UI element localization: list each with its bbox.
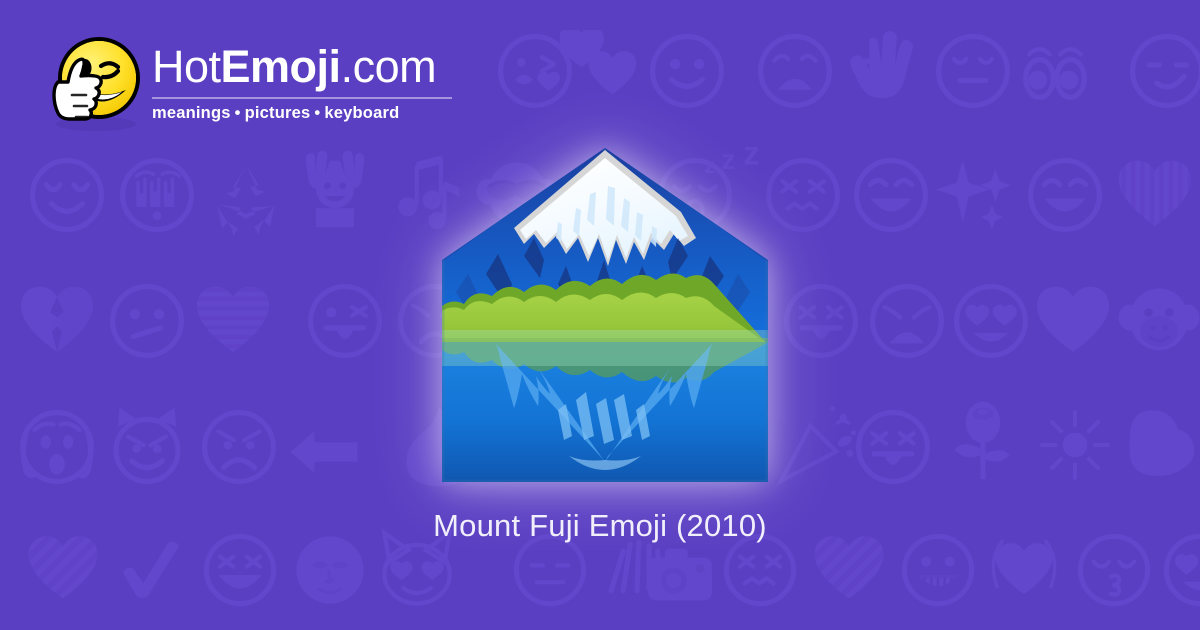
tagline-item-meanings: meanings <box>152 104 231 122</box>
squinting-tongue-face-icon <box>850 404 936 490</box>
rose-icon <box>940 400 1026 486</box>
two-hearts-icon <box>560 30 646 116</box>
raising-hands-person-icon <box>292 148 378 234</box>
winking-tongue-face-icon <box>302 278 388 364</box>
heart-eyes-face-icon <box>948 278 1034 364</box>
monkey-face-icon <box>1116 278 1200 364</box>
barcode-face-icon <box>114 152 200 238</box>
scream-face-icon <box>14 404 100 490</box>
logo-divider <box>152 97 452 99</box>
site-logo[interactable]: HotEmoji.com meanings•pictures•keyboard <box>38 26 452 134</box>
page-root: zzz <box>0 0 1200 630</box>
angry-face-icon <box>196 404 282 490</box>
page-title: Mount Fuji Emoji (2010) <box>0 505 1200 547</box>
mount-fuji-emoji-artwork <box>438 142 772 486</box>
left-arrow-icon <box>284 412 364 492</box>
site-wordmark: HotEmoji.com <box>152 41 452 93</box>
slight-smile-face-icon <box>644 28 730 114</box>
smirking-face-icon <box>1124 28 1200 114</box>
grinning-face-icon <box>848 152 934 238</box>
striped-heart-horizontal-icon <box>190 278 276 364</box>
wordmark-emoji: Emoji <box>221 41 341 92</box>
relieved-face-icon <box>24 152 110 238</box>
confounded-face-icon <box>760 152 846 238</box>
wordmark-com: .com <box>341 41 437 92</box>
ok-hand-icon <box>840 26 926 112</box>
eyes-icon <box>1012 32 1098 118</box>
party-popper-icon <box>776 400 862 486</box>
anguished-face-icon <box>752 28 838 114</box>
winking-smiley-thumbs-up-icon <box>38 26 146 134</box>
camera-icon <box>642 538 718 614</box>
heart-outline-icon <box>1030 278 1116 364</box>
weary-face-icon <box>864 278 950 364</box>
tagline-item-pictures: pictures <box>245 104 311 122</box>
striped-heart-vertical-icon <box>1112 152 1198 238</box>
broken-heart-icon <box>14 278 100 364</box>
devil-face-icon <box>104 404 190 490</box>
tongue-out-face-icon <box>778 278 864 364</box>
recycle-icon <box>206 158 286 238</box>
sun-icon <box>1034 404 1116 486</box>
flexed-biceps-icon <box>1118 400 1200 486</box>
kissing-heart-face-icon <box>492 28 578 114</box>
confused-face-icon <box>104 278 190 364</box>
tagline-separator: • <box>231 104 245 122</box>
sparkles-icon <box>930 150 1016 236</box>
wordmark-hot: Hot <box>152 41 221 92</box>
site-tagline: meanings•pictures•keyboard <box>152 104 452 123</box>
tagline-item-keyboard: keyboard <box>324 104 399 122</box>
tagline-separator: • <box>310 104 324 122</box>
grinning-face-icon <box>1022 152 1108 238</box>
neutral-face-icon <box>930 28 1016 114</box>
